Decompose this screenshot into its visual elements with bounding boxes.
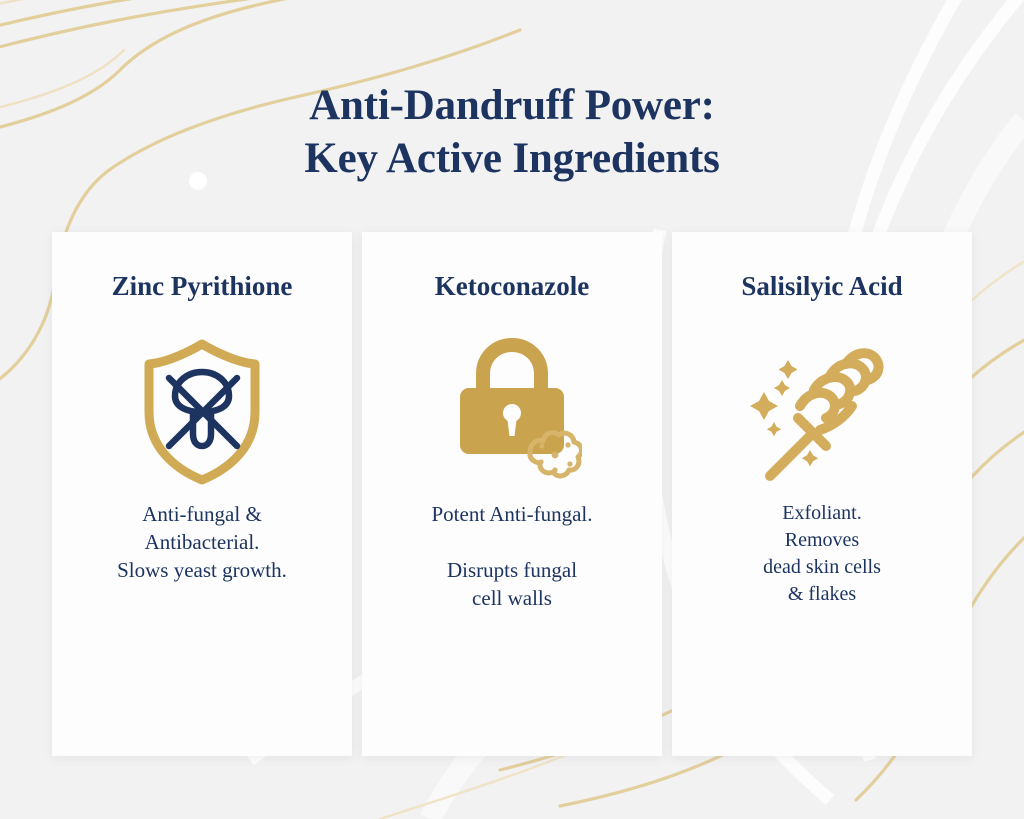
sparkle-icon (750, 392, 778, 420)
brush-handle (770, 436, 810, 476)
sparkle-icon (779, 360, 798, 379)
cell-dot (565, 442, 570, 447)
cell-dot (552, 467, 557, 472)
cell-dot (567, 461, 572, 466)
card-body: Anti-fungal & Antibacterial. Slows yeast… (103, 500, 301, 584)
page-title: Anti-Dandruff Power: Key Active Ingredie… (0, 79, 1024, 185)
card-body: Exfoliant. Removes dead skin cells & fla… (749, 500, 895, 608)
cell-dot (539, 443, 544, 448)
page-title-line-1: Anti-Dandruff Power: (0, 79, 1024, 132)
card-title: Ketoconazole (435, 270, 589, 302)
card-icon (127, 332, 277, 492)
card-body: Potent Anti-fungal. Disrupts fungal cell… (418, 500, 607, 612)
sparkle-icon (774, 380, 790, 396)
card-icon (442, 332, 582, 492)
brush-bristle (800, 393, 835, 418)
card-icon (748, 332, 896, 492)
exfoliating-brush-icon (748, 334, 896, 490)
padlock-shackle (483, 345, 541, 392)
sparkle-icon (802, 450, 818, 466)
ingredient-card-list: Zinc Pyrithione Anti-fungal & Antibacter… (52, 232, 972, 756)
card-title: Salisilyic Acid (741, 270, 902, 302)
sparkle-icon (767, 422, 781, 436)
padlock-cell-icon (442, 334, 582, 490)
card-title: Zinc Pyrithione (112, 270, 293, 302)
sparkle-group (750, 360, 818, 466)
page-title-line-2: Key Active Ingredients (0, 132, 1024, 185)
ingredient-card-ketoconazole: Ketoconazole (362, 232, 662, 756)
shield-antifungal-icon (127, 334, 277, 490)
cell-dot (552, 452, 559, 459)
cell-dot (538, 459, 543, 464)
ingredient-card-zinc-pyrithione: Zinc Pyrithione Anti-fungal & Antibacter… (52, 232, 352, 756)
ingredient-card-salicylic-acid: Salisilyic Acid (672, 232, 972, 756)
